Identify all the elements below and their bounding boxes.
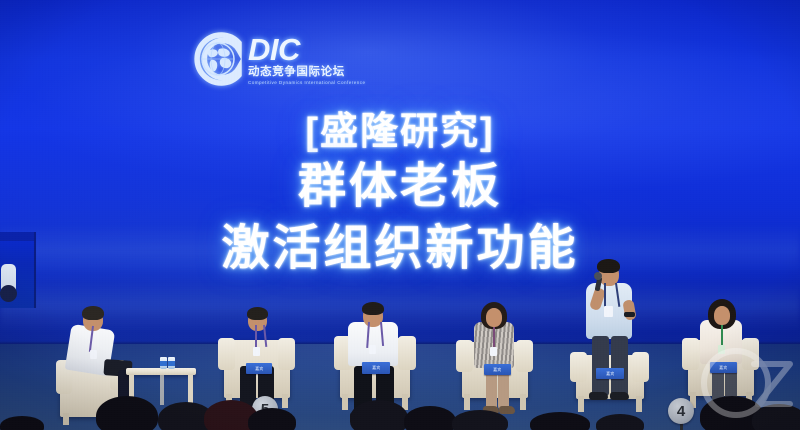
audience-head [350,400,408,430]
armchair-arm-right [632,352,649,382]
armchair-leg [520,394,526,410]
side-table-top [126,368,196,375]
logo-chinese-name: 动态竞争国际论坛 [248,66,366,79]
microphone-head [594,272,602,280]
person-shoe [610,392,629,400]
slide-title-line-2: 群体老板 [0,156,800,218]
side-display-head [0,285,17,302]
person-leg [611,336,628,396]
nameplate: 嘉宾 [596,368,624,379]
person-hair [82,306,104,320]
badge [490,347,497,356]
audience-head [596,414,644,430]
audience-head [248,408,296,430]
armchair-leg [342,394,348,410]
nameplate: 嘉宾 [710,362,737,373]
badge [253,347,260,356]
logo-wordmark: DIC [248,35,366,65]
lanyard [255,325,257,349]
slide-title: [盛隆研究] 群体老板 激活组织新功能 [0,108,800,280]
armchair-arm-right [516,340,533,372]
globe-icon [192,30,250,88]
person-hair [247,307,268,320]
logo-english-name: Competitive Dynamics International Confe… [248,80,366,86]
badge [369,345,376,354]
side-display [0,232,36,308]
armchair-arm-left [218,338,235,370]
nameplate: 嘉宾 [484,364,511,375]
person-leg [592,336,609,396]
water-bottle-label [168,361,175,366]
armchair-arm-left [570,352,587,382]
person-hair [362,302,384,315]
armchair-leg [282,394,288,408]
nameplate-text: 嘉宾 [255,366,263,372]
badge [90,350,97,359]
side-table-leg [160,375,164,405]
cdic-logo: DIC 动态竞争国际论坛 Competitive Dynamics Intern… [192,26,352,92]
nameplate-text: 嘉宾 [493,367,501,373]
person-shoe [589,392,608,400]
armchair-leg [636,396,642,412]
nameplate-text: 嘉宾 [719,365,727,371]
person-shoe [499,406,515,414]
side-display-band [0,232,34,241]
person-face [486,308,502,327]
audience-head [752,404,800,430]
audience-head [452,410,508,430]
armchair-leg [63,413,69,425]
nameplate: 嘉宾 [362,362,390,374]
nameplate-text: 嘉宾 [606,371,614,377]
audience-head [96,396,158,430]
audience-head [530,412,590,430]
audience-head [0,416,44,430]
armchair-arm-right [398,336,416,370]
badge [604,306,613,317]
water-bottle [160,357,167,369]
armchair-arm-left [456,340,473,372]
person-torso [236,325,278,367]
badge [718,345,725,354]
nameplate-text: 嘉宾 [372,365,380,371]
armchair-leg [578,396,584,412]
wristwatch-icon [624,312,635,317]
person-face [714,306,730,325]
conference-stage-scene: DIC 动态竞争国际论坛 Competitive Dynamics Intern… [0,0,800,430]
floor-sign-label: 4 [677,403,685,420]
nameplate: 嘉宾 [246,363,272,374]
water-bottle-label [160,361,167,366]
person-torso [348,322,398,366]
audience-head [404,406,456,430]
armchair-leg [464,394,470,410]
slide-title-line-3: 激活组织新功能 [0,218,800,280]
armchair-arm-right [742,338,759,370]
person-hair [597,259,620,273]
slide-title-line-1: [盛隆研究] [0,108,800,156]
floor-sign-disc: 4 [668,398,694,424]
armchair-arm-right [278,338,295,370]
water-bottle [168,357,175,369]
armchair-arm-left [682,338,699,370]
